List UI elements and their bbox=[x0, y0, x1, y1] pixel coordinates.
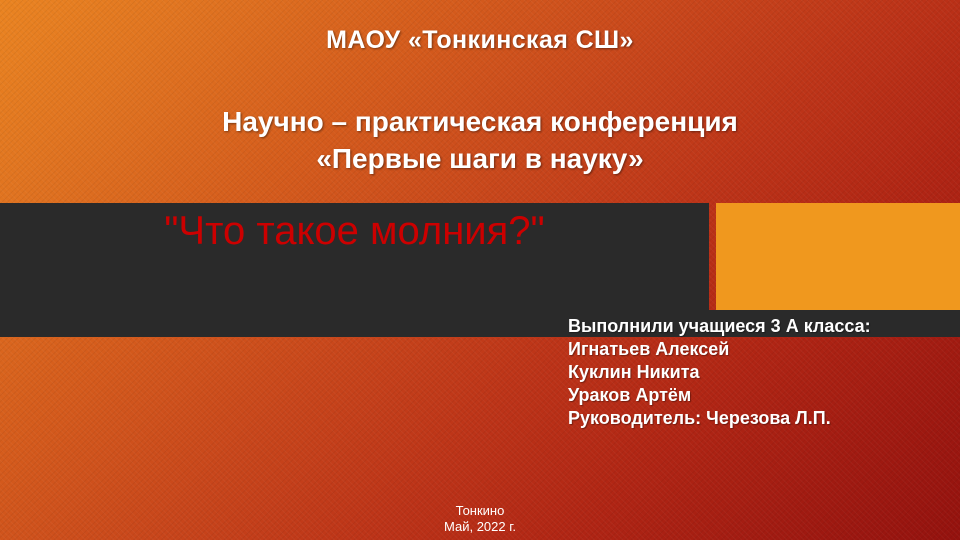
footer-date: Май, 2022 г. bbox=[0, 519, 960, 535]
conference-line-1: Научно – практическая конференция bbox=[0, 104, 960, 141]
supervisor-name: Руководитель: Черезова Л.П. bbox=[568, 407, 960, 430]
main-title: "Что такое молния?" bbox=[0, 209, 709, 254]
footer-block: Тонкино Май, 2022 г. bbox=[0, 503, 960, 535]
presentation-slide: МАОУ «Тонкинская СШ» Научно – практическ… bbox=[0, 0, 960, 540]
author-name: Игнатьев Алексей bbox=[568, 338, 960, 361]
conference-line-2: «Первые шаги в науку» bbox=[0, 141, 960, 178]
authors-heading: Выполнили учащиеся 3 А класса: bbox=[568, 315, 960, 338]
conference-title: Научно – практическая конференция «Первы… bbox=[0, 104, 960, 178]
authors-block: Выполнили учащиеся 3 А класса: Игнатьев … bbox=[568, 315, 960, 430]
footer-place: Тонкино bbox=[0, 503, 960, 519]
school-name: МАОУ «Тонкинская СШ» bbox=[0, 26, 960, 55]
author-name: Куклин Никита bbox=[568, 361, 960, 384]
author-name: Ураков Артём bbox=[568, 384, 960, 407]
